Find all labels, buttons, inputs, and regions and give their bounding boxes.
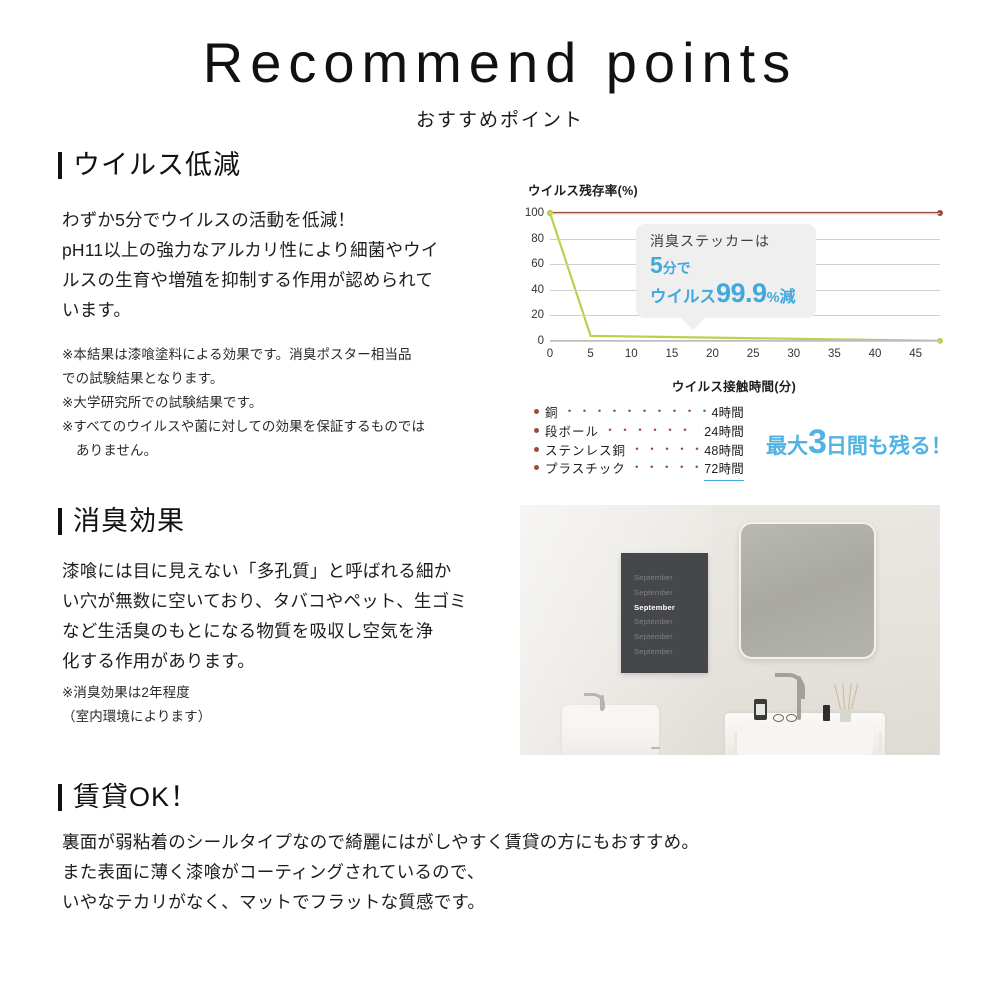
legend-leader-dots: ・・・・・・・・・・・ (604, 422, 699, 440)
page-header: Recommend points おすすめポイント (0, 34, 1000, 132)
legend-material-name: 段ボール (545, 423, 599, 442)
chart-x-tick: 10 (625, 348, 638, 360)
legend-material-name: ステンレス銅 (545, 442, 626, 461)
body-line: い穴が無数に空いており、タバコやペット、生ゴミ (62, 586, 512, 616)
chart-legend: 銅・・・・・・・・・・・4時間段ボール・・・・・・・・・・・24時間ステンレス銅… (534, 404, 744, 481)
body-line: 化する作用があります。 (62, 646, 512, 676)
photo-diffuser (840, 708, 851, 722)
heading-accent-bar (58, 508, 62, 535)
body-line: ルスの生育や増殖を抑制する作用が認められて (62, 265, 517, 295)
photo-small-bottle (823, 705, 830, 721)
legend-leader-dots: ・・・・・・・・・・・ (564, 403, 707, 421)
note-line: での試験結果となります。 (62, 367, 522, 391)
heading-accent-bar (58, 152, 62, 179)
legend-duration-value: 48時間 (704, 442, 744, 461)
note-line: （室内環境によります） (62, 705, 392, 729)
section-title: 消臭効果 (73, 508, 185, 535)
note-line: ※本結果は漆喰塗料による効果です。消臭ポスター相当品 (62, 343, 522, 367)
chart-x-axis-label: ウイルス接触時間(分) (528, 376, 940, 395)
chart-y-axis-label: ウイルス残存率(%) (528, 180, 638, 199)
legend-duration-value: 4時間 (711, 404, 744, 423)
chart-y-tick: 100 (525, 207, 544, 219)
chart-tagline: 最大3日間も残る！ (766, 425, 952, 459)
virus-survival-chart: ウイルス残存率(%) 10080604020005101520253035404… (528, 180, 940, 390)
section-heading-virus-reduction: ウイルス低減 (58, 152, 241, 179)
photo-vanity-stand (734, 733, 882, 755)
chart-x-tick: 45 (909, 348, 922, 360)
section-notes-deodorizing: ※消臭効果は2年程度 （室内環境によります） (62, 681, 392, 729)
chart-x-tick: 25 (747, 348, 760, 360)
body-line: 漆喰には目に見えない「多孔質」と呼ばれる細か (62, 556, 512, 586)
legend-bullet-icon (534, 447, 539, 452)
note-line: ※大学研究所での試験結果です。 (62, 391, 522, 415)
tagline-number: 3 (808, 423, 826, 461)
chart-y-tick: 60 (531, 258, 544, 270)
callout-line-1: 消臭ステッカーは (650, 233, 806, 251)
body-line: わずか5分でウイルスの活動を低減！ (62, 205, 517, 235)
poster-text-line: September (634, 645, 708, 660)
legend-material-name: 銅 (545, 404, 559, 423)
chart-y-tick: 40 (531, 284, 544, 296)
legend-row: ステンレス銅・・・・・・・・・・・48時間 (534, 442, 744, 461)
photo-eyeglasses (773, 714, 797, 721)
legend-material-name: プラスチック (545, 460, 626, 479)
body-line: います。 (62, 295, 517, 325)
body-line: など生活臭のもとになる物質を吸収し空気を浄 (62, 616, 512, 646)
poster-text-line: September (634, 615, 708, 630)
body-line: pH11以上の強力なアルカリ性により細菌やウイ (62, 235, 517, 265)
section-body-virus-reduction: わずか5分でウイルスの活動を低減！ pH11以上の強力なアルカリ性により細菌やウ… (62, 205, 517, 325)
photo-toilet-basin (562, 705, 659, 724)
chart-x-tick: 15 (665, 348, 678, 360)
photo-mirror (739, 522, 876, 659)
chart-x-tick: 35 (828, 348, 841, 360)
callout-line-3: ウイルス99.9%減 (650, 279, 806, 307)
body-line: 裏面が弱粘着のシールタイプなので綺麗にはがしやすく賃貸の方にもおすすめ。 (62, 827, 942, 857)
page-subtitle: おすすめポイント (0, 105, 1000, 132)
section-body-deodorizing: 漆喰には目に見えない「多孔質」と呼ばれる細か い穴が無数に空いており、タバコやペ… (62, 556, 512, 676)
section-title: ウイルス低減 (73, 152, 241, 179)
chart-x-axis (550, 340, 940, 341)
photo-toilet-handle (651, 747, 660, 750)
photo-toilet-faucet (600, 695, 604, 711)
legend-leader-dots: ・・・・・・・・・・・ (631, 459, 700, 477)
poster-text-line: September (634, 586, 708, 601)
recommend-points-page: Recommend points おすすめポイント ウイルス低減 わずか5分でウ… (0, 0, 1000, 1000)
callout-reduction-word: 減 (779, 289, 795, 306)
poster-text-line: September (634, 571, 708, 586)
legend-row: プラスチック・・・・・・・・・・・72時間 (534, 460, 744, 481)
section-notes-virus-reduction: ※本結果は漆喰塗料による効果です。消臭ポスター相当品 での試験結果となります。 … (62, 343, 522, 463)
poster-text-line: September (634, 630, 708, 645)
section-body-rental-ok: 裏面が弱粘着のシールタイプなので綺麗にはがしやすく賃貸の方にもおすすめ。 また表… (62, 827, 942, 917)
poster-text-line: September (634, 601, 708, 616)
legend-bullet-icon (534, 428, 539, 433)
body-line: いやなテカリがなく、マットでフラットな質感です。 (62, 887, 942, 917)
section-heading-deodorizing: 消臭効果 (58, 508, 185, 535)
legend-row: 段ボール・・・・・・・・・・・24時間 (534, 423, 744, 442)
callout-percent-sign: % (767, 290, 780, 306)
legend-bullet-icon (534, 409, 539, 414)
chart-y-tick: 20 (531, 309, 544, 321)
callout-line-2: 5分で (650, 253, 806, 278)
note-line: ありません。 (62, 439, 522, 463)
photo-poster: SeptemberSeptemberSeptemberSeptemberSept… (621, 553, 708, 673)
chart-x-tick: 20 (706, 348, 719, 360)
callout-minutes-value: 5 (650, 252, 663, 278)
legend-row: 銅・・・・・・・・・・・4時間 (534, 404, 744, 423)
note-line: ※消臭効果は2年程度 (62, 681, 392, 705)
section-title: 賃貸OK！ (73, 784, 198, 811)
section-heading-rental-ok: 賃貸OK！ (58, 784, 198, 811)
note-line: ※すべてのウイルスや菌に対しての効果を保証するものでは (62, 415, 522, 439)
chart-gridline (550, 213, 940, 214)
chart-callout: 消臭ステッカーは 5分で ウイルス99.9%減 (636, 224, 816, 318)
chart-gridline (550, 341, 940, 342)
tagline-prefix: 最大 (766, 435, 808, 458)
callout-virus-word: ウイルス (650, 288, 716, 306)
legend-bullet-icon (534, 465, 539, 470)
callout-minutes-unit: 分 (663, 260, 677, 276)
tagline-suffix: 日間も残る！ (826, 435, 952, 458)
legend-duration-value: 24時間 (704, 423, 744, 442)
callout-percent-value: 99.9 (716, 278, 767, 308)
chart-x-tick: 5 (587, 348, 593, 360)
chart-x-tick: 0 (547, 348, 553, 360)
bathroom-photo: SeptemberSeptemberSeptemberSeptemberSept… (520, 505, 940, 755)
photo-reed-sticks (838, 683, 854, 709)
chart-x-tick: 40 (869, 348, 882, 360)
legend-duration-value: 72時間 (704, 460, 744, 481)
callout-line-2-tail: で (677, 260, 691, 276)
page-title: Recommend points (0, 34, 1000, 93)
photo-faucet (797, 676, 801, 720)
chart-y-tick: 0 (538, 335, 544, 347)
legend-leader-dots: ・・・・・・・・・・・ (631, 441, 699, 459)
heading-accent-bar (58, 784, 62, 811)
chart-x-tick: 30 (787, 348, 800, 360)
chart-y-tick: 80 (531, 233, 544, 245)
photo-bottle (754, 699, 767, 720)
body-line: また表面に薄く漆喰がコーティングされているので、 (62, 857, 942, 887)
